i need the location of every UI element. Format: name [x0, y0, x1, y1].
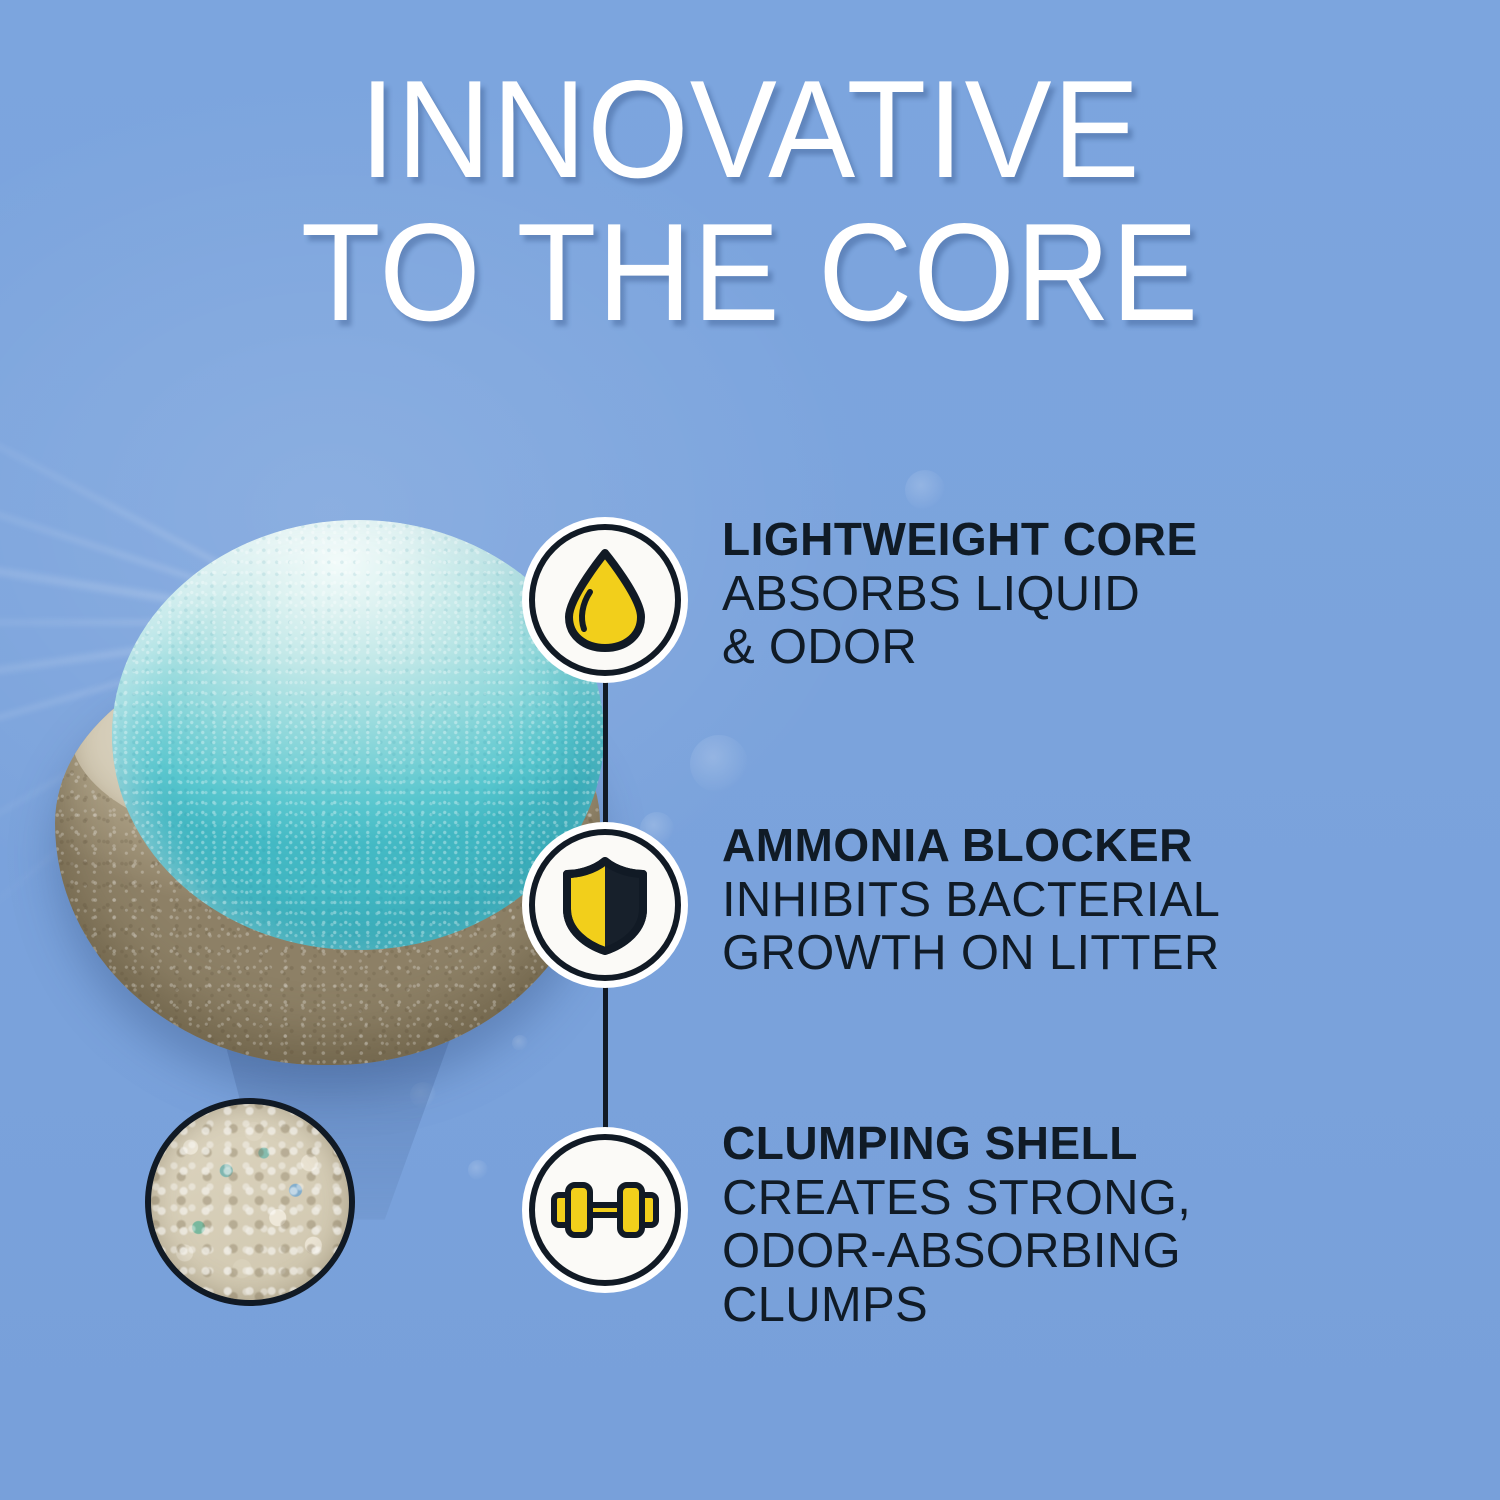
granule-texture: [145, 1098, 355, 1306]
bokeh-dot: [690, 735, 748, 793]
feature-text-lightweight-core: LIGHTWEIGHT CORE ABSORBS LIQUID & ODOR: [722, 516, 1422, 675]
connector-line: [603, 670, 608, 855]
droplet-glyph: [562, 548, 648, 652]
page-title: INNOVATIVE TO THE CORE: [45, 58, 1455, 344]
feature-body: INHIBITS BACTERIAL GROWTH ON LITTER: [722, 874, 1422, 981]
dumbbell-glyph: [550, 1179, 660, 1241]
connector-line: [603, 975, 608, 1160]
litter-granules-closeup: [145, 1098, 355, 1306]
shield-icon[interactable]: [529, 829, 681, 981]
droplet-icon[interactable]: [529, 524, 681, 676]
bokeh-dot: [905, 470, 945, 510]
feature-text-ammonia-blocker: AMMONIA BLOCKER INHIBITS BACTERIAL GROWT…: [722, 822, 1422, 981]
feature-text-clumping-shell: CLUMPING SHELL CREATES STRONG, ODOR-ABSO…: [722, 1120, 1422, 1332]
product-infographic: INNOVATIVE TO THE CORE LIGHTWEIGHT CORE …: [0, 0, 1500, 1500]
feature-body: ABSORBS LIQUID & ODOR: [722, 568, 1422, 675]
feature-heading: CLUMPING SHELL: [722, 1120, 1422, 1166]
shield-glyph: [559, 855, 651, 955]
dumbbell-icon[interactable]: [529, 1134, 681, 1286]
bokeh-dot: [468, 1160, 488, 1180]
feature-heading: AMMONIA BLOCKER: [722, 822, 1422, 868]
feature-body: CREATES STRONG, ODOR-ABSORBING CLUMPS: [722, 1172, 1422, 1332]
feature-heading: LIGHTWEIGHT CORE: [722, 516, 1422, 562]
